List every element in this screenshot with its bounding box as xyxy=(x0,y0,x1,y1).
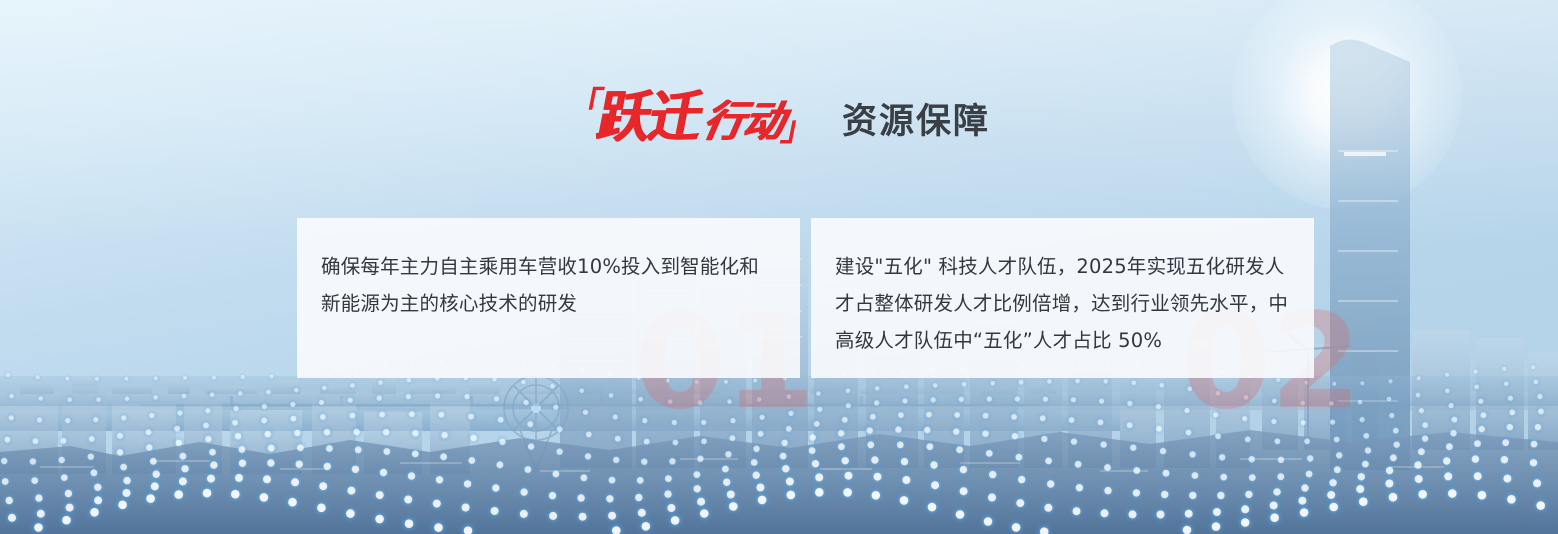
content-card-01: 确保每年主力自主乘用车营收10%投入到智能化和新能源为主的核心技术的研发 xyxy=(297,218,800,378)
logo-main-text: 跃迁 xyxy=(592,86,706,150)
content-card-02: 建设"五化" 科技人才队伍，2025年实现五化研发人才占整体研发人才比例倍增，达… xyxy=(811,218,1314,378)
card-01-text: 确保每年主力自主乘用车营收10%投入到智能化和新能源为主的核心技术的研发 xyxy=(321,248,776,322)
slide-canvas: 01 02 「 跃迁行动 」 资源保障 确保每年主力自主乘用车营收10%投入到智… xyxy=(0,0,1558,534)
logo-sub-text: 行动 xyxy=(698,98,787,147)
logo-bracket-close-icon: 」 xyxy=(779,112,820,146)
content-card-row: 确保每年主力自主乘用车营收10%投入到智能化和新能源为主的核心技术的研发 建设"… xyxy=(297,218,1314,378)
logo-text: 跃迁行动 xyxy=(593,90,790,145)
slide-header: 「 跃迁行动 」 资源保障 xyxy=(0,92,1558,144)
card-02-text: 建设"五化" 科技人才队伍，2025年实现五化研发人才占整体研发人才比例倍增，达… xyxy=(835,248,1290,359)
page-title: 资源保障 xyxy=(842,93,990,144)
yueqian-action-logo: 「 跃迁行动 」 xyxy=(568,92,816,144)
water-horizon-band xyxy=(0,376,1558,406)
